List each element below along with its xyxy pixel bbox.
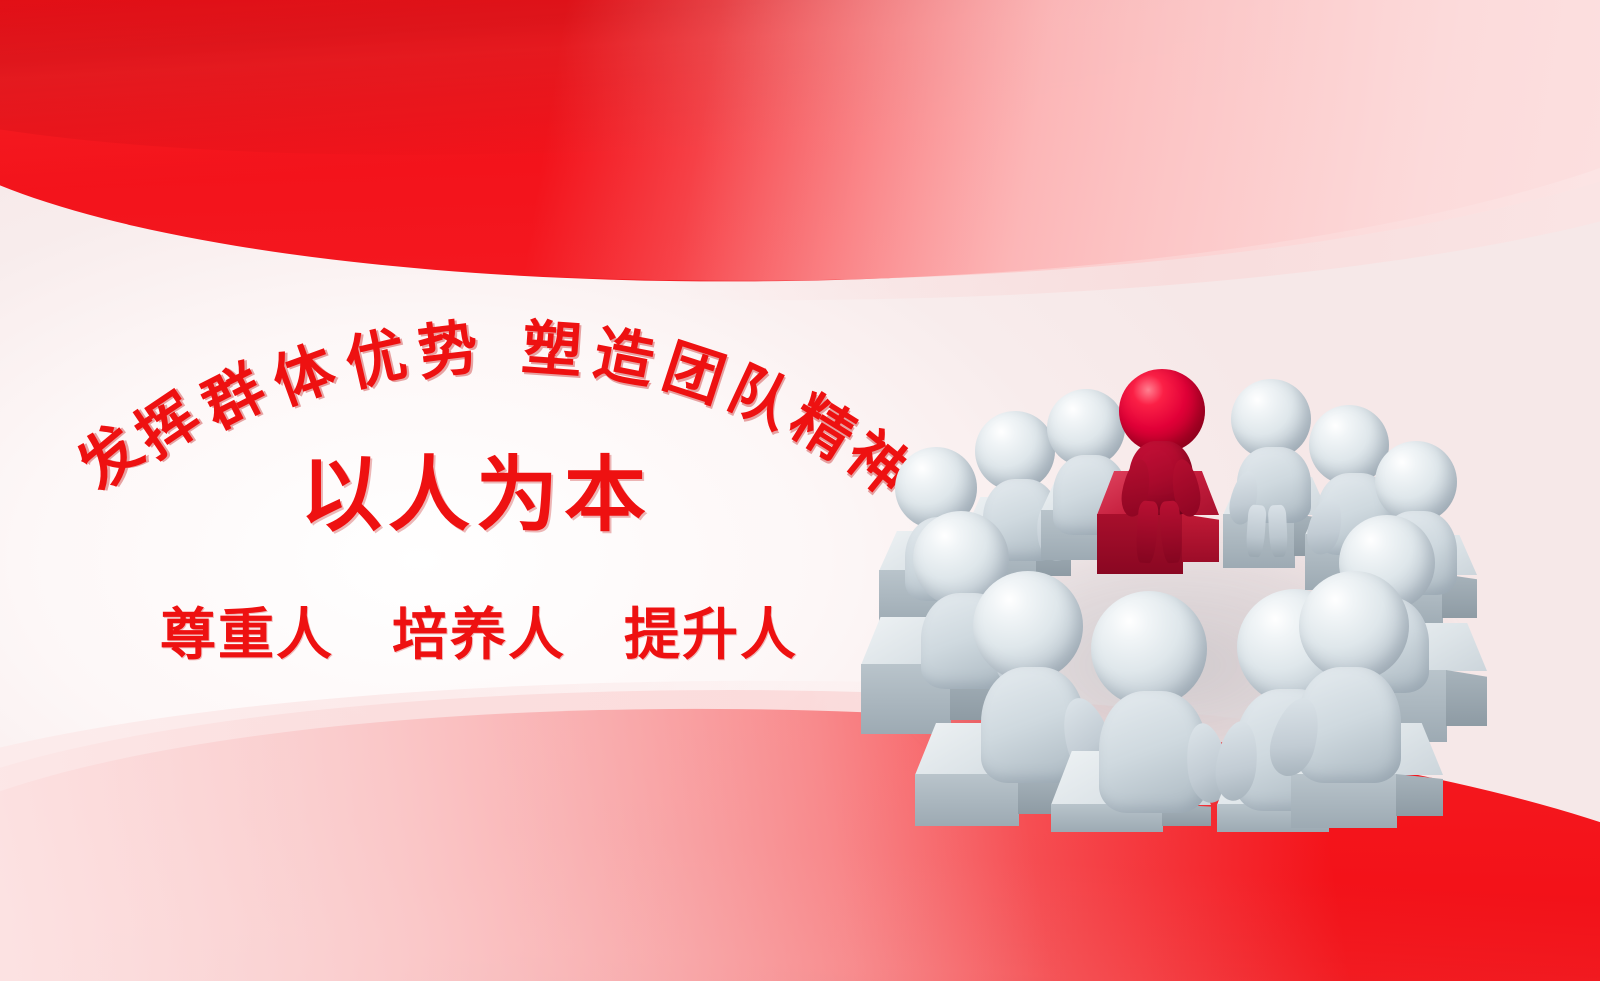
top-pink-sweep-inner <box>0 0 1600 307</box>
arched-slogan-char: 群 <box>194 358 275 439</box>
page-title: 以人为本 <box>300 455 652 537</box>
arched-slogan-char: 精 <box>781 387 864 470</box>
team-circle-3d-illustration <box>855 355 1495 825</box>
sub-title: 尊重人 培养人 提升人 <box>160 608 798 664</box>
red-leader-figure <box>1107 369 1235 559</box>
culture-banner: 发 挥 群 体 优 势 塑 造 团 队 精 神 以人为本 尊重人 培养人 提升人 <box>0 0 1600 981</box>
arched-slogan-char: 势 <box>415 318 482 385</box>
arched-slogan-char: 造 <box>589 323 659 393</box>
arched-slogan-char: 团 <box>656 336 732 412</box>
arched-slogan-char: 塑 <box>520 318 584 382</box>
arched-slogan-char: 挥 <box>126 384 209 467</box>
arched-slogan-char: 发 <box>68 416 153 501</box>
figure-ring <box>855 355 1495 825</box>
arched-slogan-char: 体 <box>266 338 343 415</box>
arched-slogan-char: 队 <box>720 358 800 438</box>
grey-member-figure <box>1255 571 1423 789</box>
arched-slogan-char: 优 <box>340 324 412 396</box>
